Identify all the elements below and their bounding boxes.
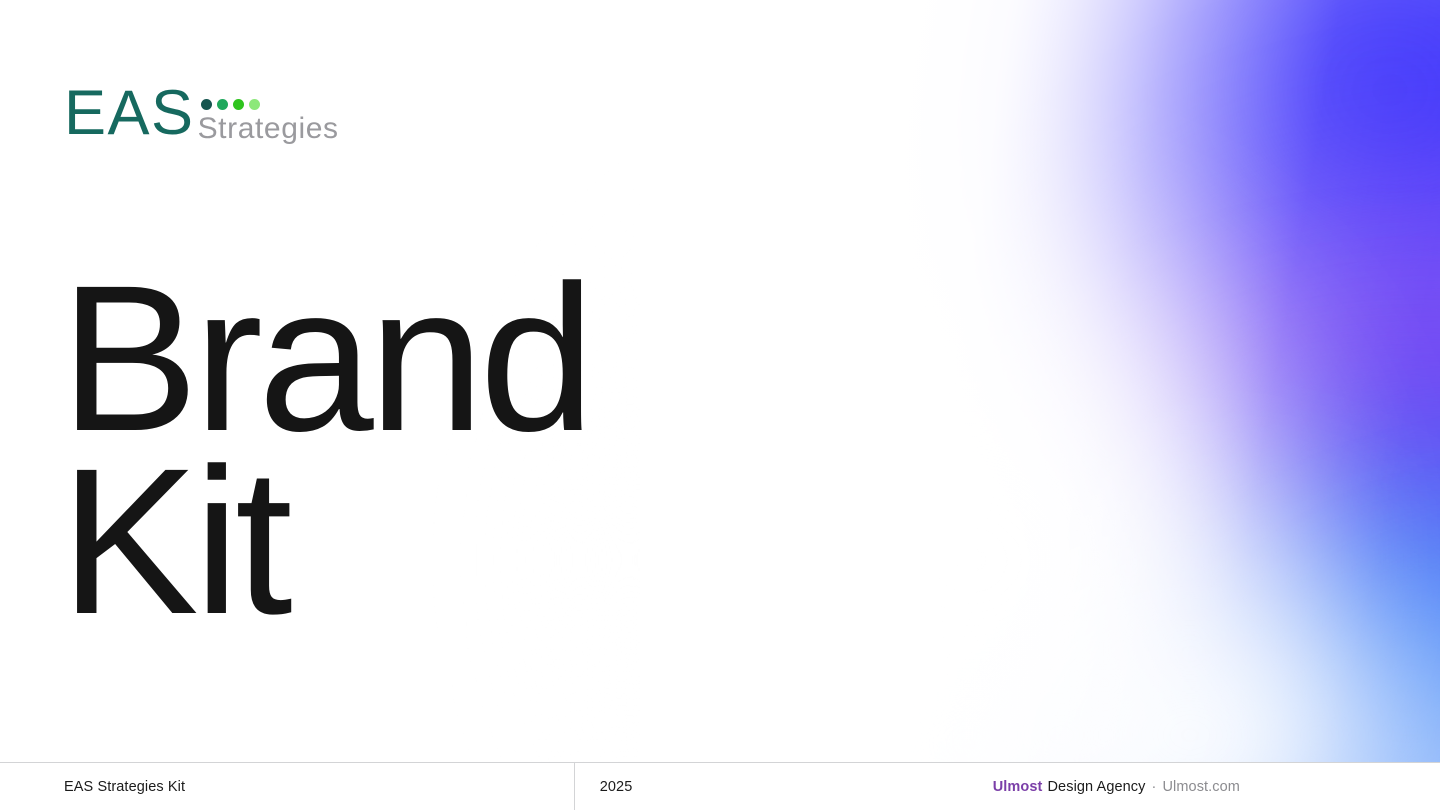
gradient-blob-azure <box>1000 350 1440 810</box>
logo-dots-group <box>198 97 339 111</box>
brand-logo[interactable]: EAS Strategies <box>64 88 339 145</box>
footer-credit-brand: Ulmost <box>993 779 1043 795</box>
logo-wordmark: EAS <box>64 88 195 140</box>
gradient-white-notch-upper <box>590 210 1350 810</box>
dot-bright-green-icon <box>233 99 244 110</box>
logo-secondary-stack: Strategies <box>198 88 339 145</box>
dot-green-icon <box>217 99 228 110</box>
footer-bar: EAS Strategies Kit 2025 Ulmost Design Ag… <box>0 762 1440 810</box>
logo-subword: Strategies <box>198 114 339 145</box>
gradient-artwork <box>640 0 1440 810</box>
footer-year: 2025 <box>574 763 993 810</box>
footer-credit-separator: · <box>1152 779 1157 795</box>
gradient-blob-indigo <box>940 0 1440 500</box>
cover-slide: EAS Strategies Brand Kit EAS Strategies … <box>0 0 1440 810</box>
gradient-blob-violet <box>1020 130 1440 810</box>
page-title: Brand Kit <box>60 268 590 634</box>
footer-credit-role: Design Agency <box>1047 779 1145 795</box>
footer-credit[interactable]: Ulmost Design Agency · Ulmost.com <box>993 763 1440 810</box>
dot-light-green-icon <box>249 99 260 110</box>
dot-dark-teal-icon <box>201 99 212 110</box>
page-title-line-1: Brand <box>60 268 590 451</box>
gradient-left-fade <box>640 0 1440 810</box>
footer-credit-website[interactable]: Ulmost.com <box>1162 779 1240 795</box>
page-title-line-2: Kit <box>60 451 590 634</box>
footer-document-label: EAS Strategies Kit <box>0 763 574 810</box>
